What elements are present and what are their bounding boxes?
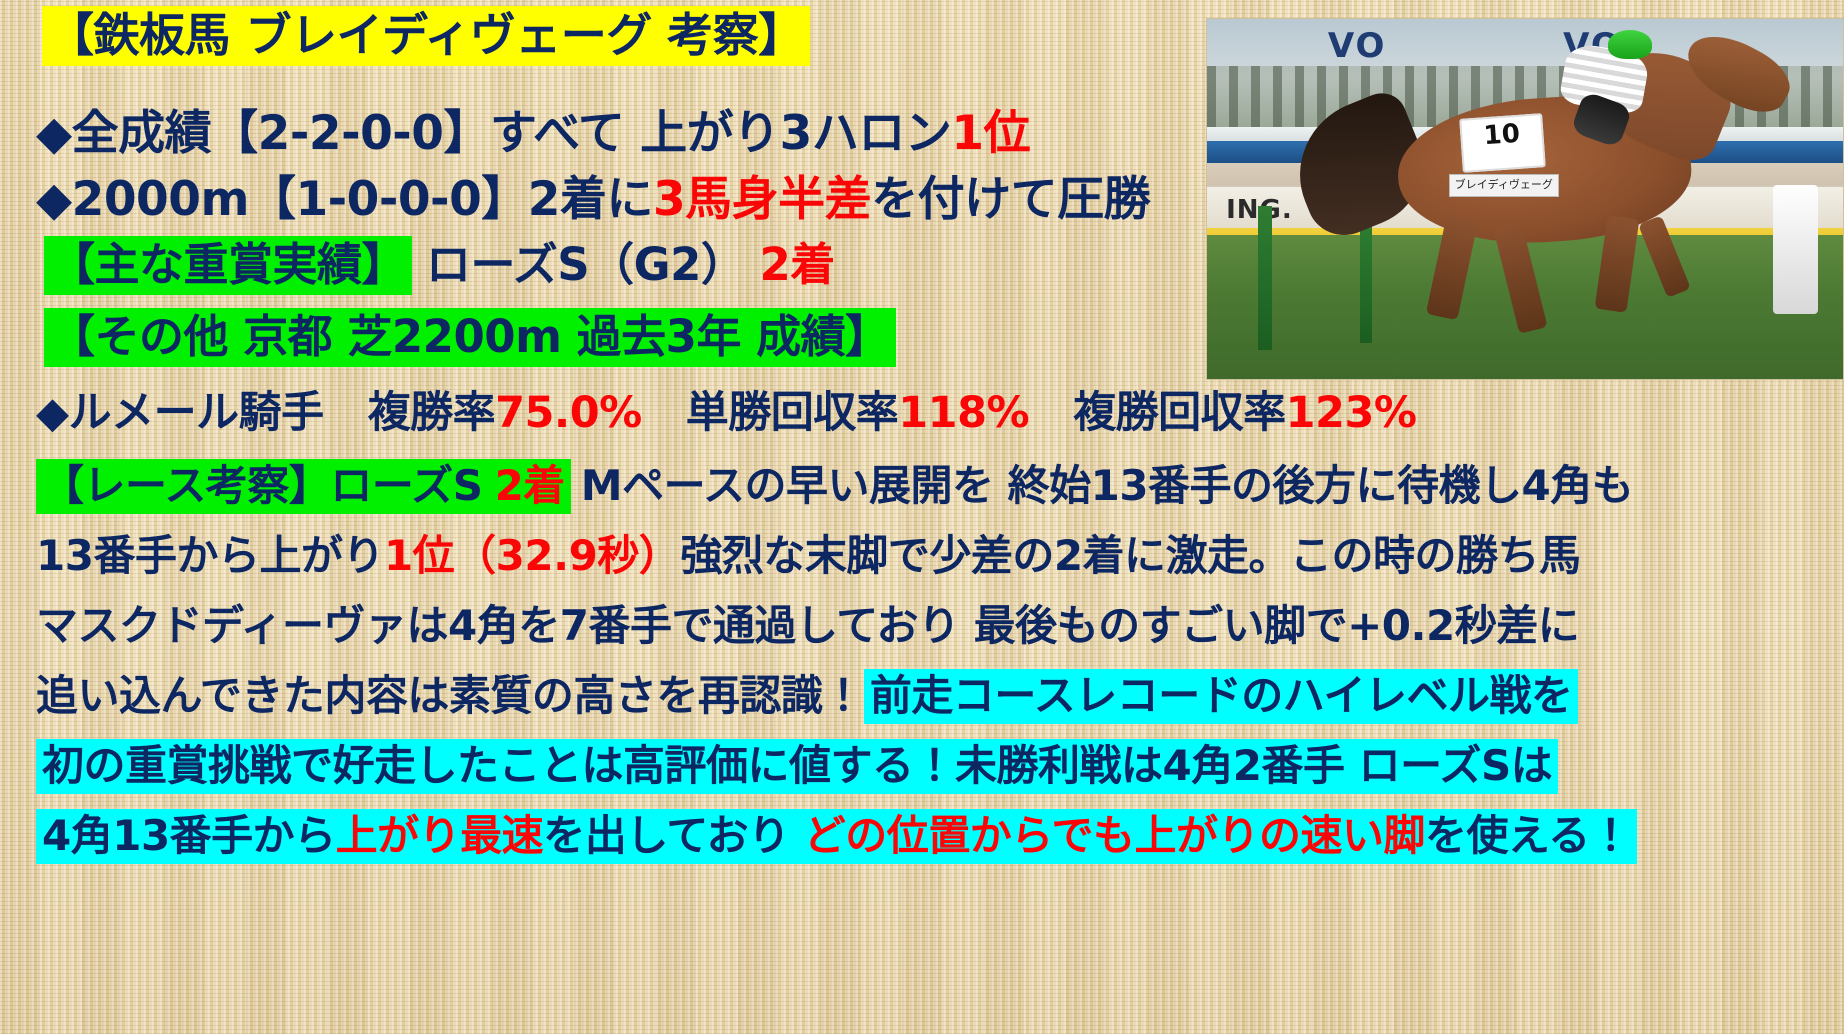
- all-results-rank: 1位: [951, 106, 1030, 161]
- row-other-course-header: 【その他 京都 芝2200m 過去3年 成績】: [44, 300, 896, 365]
- row-distance-2000m: ◆2000m【1-0-0-0】2着に3馬身半差を付けて圧勝: [36, 160, 1150, 229]
- row-jockey-stats: ◆ルメール騎手複勝率75.0%単勝回収率118%複勝回収率123%: [36, 378, 1416, 440]
- photo-sponsor-left-text: VO: [1328, 26, 1387, 66]
- infographic-canvas: 【鉄板馬 ブレイディヴェーグ 考察】 ◆全成績【2-2-0-0】すべて 上がり3…: [0, 0, 1844, 1034]
- photo-white-post: [1773, 185, 1818, 315]
- analysis-line-4-a: 追い込んできた内容は素質の高さを再認識！: [36, 671, 864, 720]
- jockey-name: ルメール騎手: [69, 388, 324, 438]
- analysis-line-1-text: Mペースの早い展開を 終始13番手の後方に待機し4角も: [581, 461, 1634, 510]
- photo-green-pole-1: [1258, 206, 1272, 350]
- analysis-line-1: 【レース考察】ローズS2着Mペースの早い展開を 終始13番手の後方に待機し4角も: [36, 452, 1633, 513]
- photo-jockey-helmet: [1608, 30, 1653, 59]
- all-results-text: 全成績【2-2-0-0】すべて 上がり3ハロン: [72, 106, 952, 161]
- graded-results-race: ローズS（G2）: [426, 238, 745, 291]
- place-rate-label: 複勝率: [368, 388, 496, 438]
- analysis-tag-label: 【レース考察】ローズS: [36, 459, 489, 514]
- analysis-line-3: マスクドディーヴァは4角を7番手で通過しており 最後ものすごい脚で+0.2秒差に: [36, 592, 1579, 653]
- other-course-header-text: 【その他 京都 芝2200m 過去3年 成績】: [44, 308, 896, 367]
- bullet-diamond-icon: ◆: [36, 106, 72, 161]
- analysis-line-6-a: 4角13番手から: [42, 811, 336, 860]
- distance-text-a: 2000m【1-0-0-0】2着に: [72, 172, 653, 227]
- photo-saddle-cloth: 10: [1460, 113, 1546, 173]
- analysis-tag-place: 2着: [489, 459, 571, 514]
- win-roi-label: 単勝回収率: [686, 388, 899, 438]
- distance-text-c: を付けて圧勝: [871, 172, 1150, 227]
- place-roi-label: 複勝回収率: [1073, 388, 1286, 438]
- analysis-line-4-highlight: 前走コースレコードのハイレベル戦を: [864, 669, 1579, 724]
- photo-horse-name-plate: ブレイディヴェーグ: [1449, 174, 1559, 198]
- photo-saddle-number: 10: [1460, 113, 1545, 158]
- bullet-diamond-icon: ◆: [36, 388, 69, 438]
- page-title-text: 【鉄板馬 ブレイディヴェーグ 考察】: [42, 6, 810, 66]
- photo-green-pole-2: [1360, 221, 1373, 343]
- analysis-line-5-highlight: 初の重賞挑戦で好走したことは高評価に値する！未勝利戦は4角2番手 ローズSは: [36, 739, 1558, 794]
- analysis-line-6-e: を使える！: [1425, 811, 1631, 860]
- bullet-diamond-icon: ◆: [36, 172, 72, 227]
- graded-results-label: 【主な重賞実績】: [44, 236, 412, 295]
- place-rate-value: 75.0%: [495, 388, 642, 438]
- analysis-line-2-c: 強烈な末脚で少差の2着に激走。この時の勝ち馬: [680, 531, 1580, 580]
- place-roi-value: 123%: [1286, 388, 1417, 438]
- analysis-line-4: 追い込んできた内容は素質の高さを再認識！前走コースレコードのハイレベル戦を: [36, 662, 1578, 723]
- analysis-line-6-highlight: 4角13番手から上がり最速を出しており どの位置からでも上がりの速い脚を使える！: [36, 809, 1637, 864]
- win-roi-value: 118%: [898, 388, 1029, 438]
- analysis-line-6: 4角13番手から上がり最速を出しており どの位置からでも上がりの速い脚を使える！: [36, 802, 1637, 863]
- race-photo: VO VO ING. 10 ブレイディヴェーグ: [1206, 18, 1844, 380]
- row-all-results: ◆全成績【2-2-0-0】すべて 上がり3ハロン1位: [36, 94, 1030, 163]
- row-graded-results: 【主な重賞実績】ローズS（G2）2着: [44, 228, 835, 293]
- graded-results-place: 2着: [759, 238, 834, 291]
- analysis-line-6-c: を出しており: [543, 811, 804, 860]
- analysis-line-6-d: どの位置からでも上がりの速い脚: [804, 811, 1425, 860]
- analysis-line-2-a: 13番手から上がり: [36, 531, 384, 580]
- analysis-line-2-last3f: 1位（32.9秒）: [384, 531, 680, 580]
- distance-margin: 3馬身半差: [653, 172, 871, 227]
- analysis-line-6-b: 上がり最速: [336, 811, 544, 860]
- page-title: 【鉄板馬 ブレイディヴェーグ 考察】: [42, 12, 810, 59]
- analysis-line-2: 13番手から上がり1位（32.9秒）強烈な末脚で少差の2着に激走。この時の勝ち馬: [36, 522, 1581, 583]
- analysis-line-3-text: マスクドディーヴァは4角を7番手で通過しており 最後ものすごい脚で+0.2秒差に: [36, 601, 1579, 650]
- analysis-line-5: 初の重賞挑戦で好走したことは高評価に値する！未勝利戦は4角2番手 ローズSは: [36, 732, 1558, 793]
